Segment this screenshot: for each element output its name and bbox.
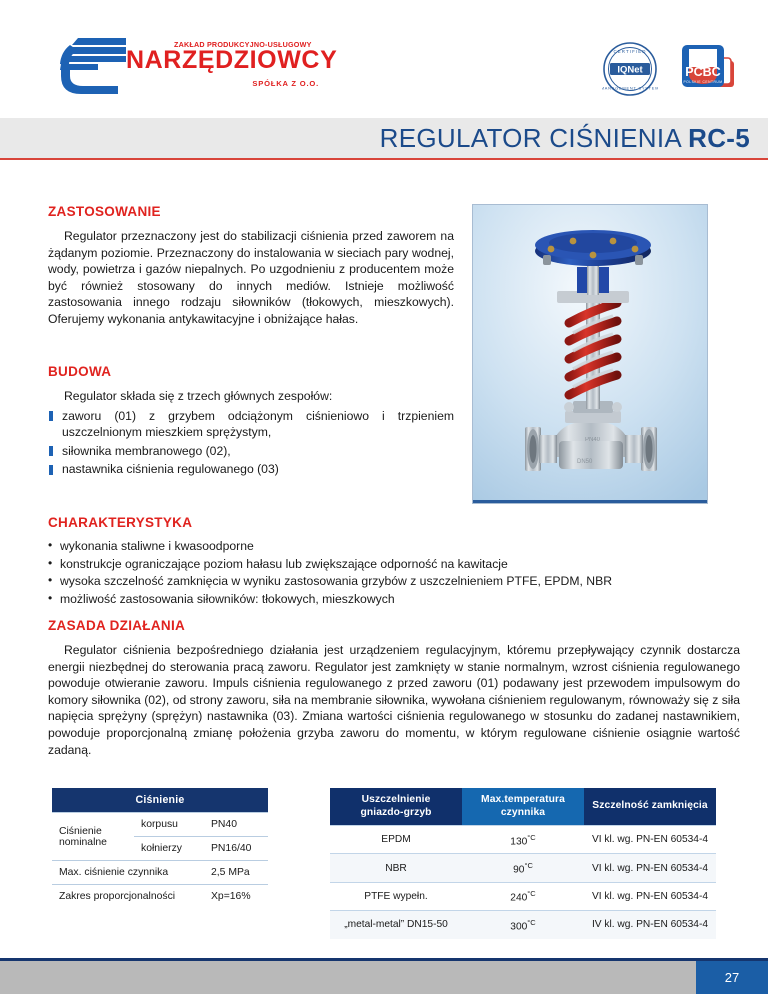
svg-text:MANAGEMENT SYSTEM: MANAGEMENT SYSTEM <box>602 86 658 91</box>
table-cell-sealing: „metal-metal” DN15-50 <box>330 911 462 939</box>
charakterystyka-feature-list: wykonania staliwne i kwasoodporne konstr… <box>48 538 738 609</box>
table-row: Ciśnienienominalne korpusu PN40 <box>52 813 268 837</box>
table-cell-sealing: PTFE wypełn. <box>330 882 462 910</box>
temp-value: 90 <box>513 864 524 875</box>
header-line-1: Max.temperatura <box>481 794 565 805</box>
product-image-frame: PN40 DN50 <box>472 204 708 504</box>
list-item: wykonania staliwne i kwasoodporne <box>48 538 738 556</box>
page-title-model: RC-5 <box>688 123 750 153</box>
page-header-row: ZAKŁAD PRODUKCYJNO-USŁUGOWY NARZĘDZIOWCY… <box>0 0 768 118</box>
pressure-specification-table: Ciśnienie Ciśnienienominalne korpusu PN4… <box>52 788 268 908</box>
table-cell-label: Zakres proporcjonalności <box>52 885 204 909</box>
table-header-row: Uszczelnieniegniazdo-grzyb Max.temperatu… <box>330 788 716 826</box>
page-title: REGULATOR CIŚNIENIA RC-5 <box>380 123 768 154</box>
budowa-component-list: zaworu (01) z grzybem odciążonym ciśnien… <box>48 408 454 478</box>
table-cell-tightness: VI kl. wg. PN-EN 60534-4 <box>584 826 716 854</box>
list-item: konstrukcje ograniczające poziom hałasu … <box>48 556 738 574</box>
iqnet-certification-logo-icon: IQNet CERTIFIED MANAGEMENT SYSTEM <box>602 41 658 97</box>
table-cell-sealing: EPDM <box>330 826 462 854</box>
company-logo: ZAKŁAD PRODUKCYJNO-USŁUGOWY NARZĘDZIOWCY… <box>48 32 318 100</box>
table-cell-temperature: 130°C <box>462 826 584 854</box>
section-heading-zastosowanie: ZASTOSOWANIE <box>48 204 454 219</box>
table-cell-tightness: VI kl. wg. PN-EN 60534-4 <box>584 882 716 910</box>
table-row: Max. ciśnienie czynnika 2,5 MPa <box>52 861 268 885</box>
table-cell-value: Xp=16% <box>204 885 268 909</box>
company-legal-form: SPÓŁKA Z O.O. <box>252 79 319 88</box>
header-line-2: czynnika <box>501 807 545 818</box>
certification-logos: IQNet CERTIFIED MANAGEMENT SYSTEM PCBC P… <box>602 38 738 100</box>
section-heading-budowa: BUDOWA <box>48 364 454 379</box>
table-header-cell-sealing: Uszczelnieniegniazdo-grzyb <box>330 788 462 826</box>
header-line-1: Uszczelnienie <box>362 794 431 805</box>
table-row: EPDM 130°C VI kl. wg. PN-EN 60534-4 <box>330 826 716 854</box>
table-cell-temperature: 300°C <box>462 911 584 939</box>
title-underline-rule <box>0 158 768 160</box>
list-item: możliwość zastosowania siłowników: tłoko… <box>48 591 738 609</box>
table-row: PTFE wypełn. 240°C VI kl. wg. PN-EN 6053… <box>330 882 716 910</box>
temp-unit: °C <box>527 918 535 927</box>
svg-text:IQNet: IQNet <box>617 65 643 76</box>
section-lead-budowa: Regulator składa się z trzech głównych z… <box>48 388 454 405</box>
section-zasada-dzialania: ZASADA DZIAŁANIA Regulator ciśnienia bez… <box>48 618 740 758</box>
svg-text:POLSKIE CENTRUM: POLSKIE CENTRUM <box>683 80 722 84</box>
table-cell-label: Max. ciśnienie czynnika <box>52 861 204 885</box>
header-line-1: Szczelność zamknięcia <box>592 800 707 811</box>
table-cell-tightness: IV kl. wg. PN-EN 60534-4 <box>584 911 716 939</box>
table-header-cell-temperature: Max.temperaturaczynnika <box>462 788 584 826</box>
section-heading-zasada: ZASADA DZIAŁANIA <box>48 618 740 633</box>
svg-text:CERTIFIED: CERTIFIED <box>614 49 647 54</box>
pcbc-certification-logo-icon: PCBC POLSKIE CENTRUM <box>680 41 738 97</box>
temp-value: 240 <box>510 893 527 904</box>
sealing-specification-table: Uszczelnieniegniazdo-grzyb Max.temperatu… <box>330 788 716 939</box>
table-row: „metal-metal” DN15-50 300°C IV kl. wg. P… <box>330 911 716 939</box>
document-page: ZAKŁAD PRODUKCYJNO-USŁUGOWY NARZĘDZIOWCY… <box>0 0 768 994</box>
table-cell-sublabel: kołnierzy <box>134 837 204 861</box>
list-item: siłownika membranowego (02), <box>48 443 454 460</box>
table-cell-sublabel: korpusu <box>134 813 204 837</box>
footer-bar <box>0 961 768 994</box>
product-title-band: REGULATOR CIŚNIENIA RC-5 <box>0 118 768 158</box>
page-title-regular: REGULATOR CIŚNIENIA <box>380 123 688 153</box>
svg-text:DN50: DN50 <box>577 459 593 465</box>
table-cell-temperature: 240°C <box>462 882 584 910</box>
section-zastosowanie: ZASTOSOWANIE Regulator przeznaczony jest… <box>48 204 454 328</box>
list-item: wysoka szczelność zamknięcia w wyniku za… <box>48 573 738 591</box>
table-cell-temperature: 90°C <box>462 854 584 882</box>
product-image-bottom-bar <box>473 500 707 503</box>
temp-value: 300 <box>510 921 527 932</box>
label-line-1: Ciśnienie <box>59 826 102 837</box>
temp-unit: °C <box>527 889 535 898</box>
table-row: Zakres proporcjonalności Xp=16% <box>52 885 268 909</box>
svg-text:PN40: PN40 <box>585 437 601 443</box>
company-name: NARZĘDZIOWCY <box>126 48 337 73</box>
table-cell-label: Ciśnienienominalne <box>52 813 134 861</box>
section-heading-charakterystyka: CHARAKTERYSTYKA <box>48 515 738 530</box>
table-cell-value: PN16/40 <box>204 837 268 861</box>
section-charakterystyka: CHARAKTERYSTYKA wykonania staliwne i kwa… <box>48 515 738 609</box>
section-body-zasada: Regulator ciśnienia bezpośredniego dział… <box>48 642 740 758</box>
section-budowa: BUDOWA Regulator składa się z trzech głó… <box>48 364 454 478</box>
label-line-2: nominalne <box>59 837 107 848</box>
temp-value: 130 <box>510 836 527 847</box>
table-cell-value: PN40 <box>204 813 268 837</box>
temp-unit: °C <box>524 861 532 870</box>
list-item: nastawnika ciśnienia regulowanego (03) <box>48 461 454 478</box>
page-number-badge: 27 <box>696 961 768 994</box>
pressure-regulator-valve-photo: PN40 DN50 <box>473 205 708 504</box>
list-item: zaworu (01) z grzybem odciążonym ciśnien… <box>48 408 454 441</box>
table-cell-tightness: VI kl. wg. PN-EN 60534-4 <box>584 854 716 882</box>
table-cell-value: 2,5 MPa <box>204 861 268 885</box>
header-line-2: gniazdo-grzyb <box>360 807 431 818</box>
table-header-cell-tightness: Szczelność zamknięcia <box>584 788 716 826</box>
section-body-zastosowanie: Regulator przeznaczony jest do stabiliza… <box>48 228 454 328</box>
table-cell-sealing: NBR <box>330 854 462 882</box>
table-header-row: Ciśnienie <box>52 788 268 813</box>
table-row: NBR 90°C VI kl. wg. PN-EN 60534-4 <box>330 854 716 882</box>
temp-unit: °C <box>527 833 535 842</box>
table-header-cell: Ciśnienie <box>52 788 268 813</box>
svg-text:PCBC: PCBC <box>685 65 720 79</box>
